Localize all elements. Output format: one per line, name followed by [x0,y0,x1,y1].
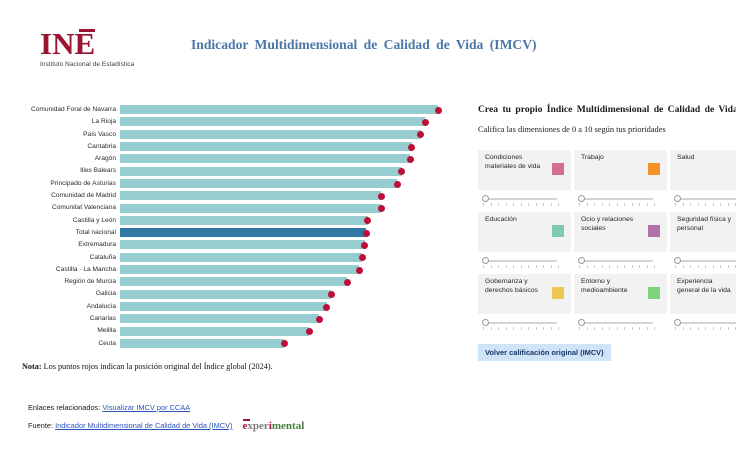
slider-tick [728,265,729,268]
slider-tick [551,327,552,330]
bar-fill[interactable] [120,204,381,213]
slider-tick [536,265,537,268]
slider-handle[interactable] [578,257,585,264]
bar-fill[interactable] [120,240,365,249]
bar-track [120,253,472,262]
bar-row: Illes Balears [0,165,476,177]
slider-tick [639,203,640,206]
slider-tick [491,203,492,206]
slider-tick [521,265,522,268]
slider-tick [683,203,684,206]
slider-tick [558,203,559,206]
slider-tick [483,265,484,268]
original-position-dot [408,144,415,151]
slider-tick [624,265,625,268]
slider-tick [528,327,529,330]
original-position-dot [328,291,335,298]
builder-title: Crea tu propio Índice Multidimensional d… [478,104,736,115]
slider-tick [698,265,699,268]
bar-row: Canarias [0,313,476,325]
original-position-dot [407,156,414,163]
dimension-card: Seguridad física y personal [670,212,736,252]
slider-tick [513,265,514,268]
slider-tick [536,327,537,330]
bar-label: Comunidad de Madrid [0,191,116,200]
bar-track [120,204,472,213]
experimental-logo-xper: xper [247,420,268,432]
bar-track [120,216,472,225]
ine-logo-block: INE Instituto Nacional de Estadística [40,28,200,68]
slider-tick [543,327,544,330]
slider-tick [579,203,580,206]
bar-fill[interactable] [120,290,331,299]
experimental-logo: experimental [243,421,305,432]
bar-fill[interactable] [120,179,397,188]
bar-label: Castilla - La Mancha [0,265,116,274]
original-position-dot [356,267,363,274]
slider-tick [483,203,484,206]
dimension-label: Trabajo [581,154,637,163]
slider-tick [594,327,595,330]
bar-fill[interactable] [120,117,425,126]
dimension-cell: Experiencia general de la vida [670,274,736,330]
slider-tick [728,327,729,330]
dimension-cell: Salud [670,150,736,206]
slider-tick [513,327,514,330]
slider-tick [720,327,721,330]
dimension-card: Ocio y relaciones sociales [574,212,667,252]
ine-logo-overbar-icon [79,29,95,32]
bar-fill[interactable] [120,154,410,163]
slider-tick [498,265,499,268]
slider-handle[interactable] [578,319,585,326]
slider-tick [675,203,676,206]
slider-tick [594,265,595,268]
dimension-card: Experiencia general de la vida [670,274,736,314]
slider-tick [594,203,595,206]
original-position-dot [398,168,405,175]
slider-tick [720,203,721,206]
dimension-cell: Trabajo [574,150,667,206]
slider-tick [698,327,699,330]
slider-tick [528,265,529,268]
slider-tick [690,265,691,268]
chart-note-text: Los puntos rojos indican la posición ori… [42,362,273,371]
slider-tick [609,265,610,268]
slider-tick [543,203,544,206]
bar-row: Ceuta [0,338,476,350]
bar-track [120,228,472,237]
bar-track [120,105,472,114]
bar-track [120,142,472,151]
slider-ticks [675,203,736,206]
bar-fill[interactable] [120,253,362,262]
slider-tick [521,327,522,330]
slider-tick [506,327,507,330]
bar-fill[interactable] [120,277,347,286]
slider-tick [602,203,603,206]
original-position-dot [378,205,385,212]
bar-label: Melilla [0,326,116,335]
slider-tick [609,327,610,330]
bar-row: La Rioja [0,116,476,128]
dimension-slider[interactable] [670,317,736,330]
slider-tick [639,265,640,268]
dimension-cell: Seguridad física y personal [670,212,736,268]
slider-tick [647,265,648,268]
original-position-dot [422,119,429,126]
dimension-slider[interactable] [670,193,736,206]
slider-tick [698,203,699,206]
slider-tick [543,265,544,268]
slider-ticks [579,327,655,330]
slider-tick [491,327,492,330]
bar-label: Comunidad Foral de Navarra [0,105,116,114]
bar-fill[interactable] [120,228,366,237]
bar-fill[interactable] [120,130,421,139]
page-title: Indicador Multidimensional de Calidad de… [191,37,537,53]
original-position-dot [394,181,401,188]
dimension-label: Gobernanza y derechos básicos [485,278,541,295]
dimension-slider[interactable] [574,317,667,330]
bar-row: Castilla y León [0,215,476,227]
slider-tick [506,265,507,268]
bar-label: Principado de Asturias [0,179,116,188]
bar-track [120,167,472,176]
slider-ticks [579,265,655,268]
bar-track [120,314,472,323]
dimension-card: Trabajo [574,150,667,190]
source-line: Fuente: Indicador Multidimensional de Ca… [28,420,488,431]
slider-handle[interactable] [578,195,585,202]
bar-fill[interactable] [120,339,284,348]
dimension-card: Educación [478,212,571,252]
ine-logo-text: INE [40,28,95,59]
slider-tick [639,327,640,330]
bar-label: La Rioja [0,117,116,126]
footer-links: Enlaces relacionados: Visualizar IMCV po… [28,402,488,438]
bar-track [120,277,472,286]
slider-tick [675,265,676,268]
dimension-label: Seguridad física y personal [677,216,733,233]
dimension-slider[interactable] [574,193,667,206]
slider-tick [632,265,633,268]
bar-fill[interactable] [120,105,438,114]
slider-tick [587,265,588,268]
bar-label: Andalucía [0,302,116,311]
slider-tick [683,265,684,268]
bar-label: Comunitat Valenciana [0,203,116,212]
slider-handle[interactable] [482,257,489,264]
slider-tick [579,265,580,268]
slider-track[interactable] [581,198,653,201]
dimension-color-swatch [648,163,660,175]
slider-handle[interactable] [482,195,489,202]
slider-track[interactable] [485,260,557,263]
slider-tick [498,327,499,330]
dimension-label: Ocio y relaciones sociales [581,216,637,233]
bar-label: Extremadura [0,240,116,249]
bar-row: Comunidad Foral de Navarra [0,104,476,116]
bar-fill[interactable] [120,327,309,336]
slider-tick [632,203,633,206]
related-links-line: Enlaces relacionados: Visualizar IMCV po… [28,402,488,413]
slider-handle[interactable] [674,257,681,264]
bar-fill[interactable] [120,142,412,151]
slider-tick [551,265,552,268]
original-position-dot [344,279,351,286]
slider-track[interactable] [485,322,557,325]
bar-fill[interactable] [120,302,327,311]
slider-track[interactable] [677,322,736,325]
bar-label: Castilla y León [0,216,116,225]
slider-tick [624,327,625,330]
dimension-card: Entorno y medioambiente [574,274,667,314]
bar-track [120,290,472,299]
dimension-color-swatch [552,225,564,237]
dimension-cell: Condiciones materiales de vida [478,150,571,206]
bar-fill[interactable] [120,216,368,225]
experimental-logo-mental: mental [272,420,304,432]
dimension-label: Condiciones materiales de vida [485,154,541,171]
slider-tick [632,327,633,330]
original-position-dot [316,316,323,323]
bar-fill[interactable] [120,167,402,176]
bar-row: Principado de Asturias [0,178,476,190]
slider-tick [491,265,492,268]
bar-track [120,130,472,139]
slider-tick [654,327,655,330]
slider-handle[interactable] [482,319,489,326]
experimental-logo-e: e [243,420,248,432]
bar-label: País Vasco [0,130,116,139]
experimental-logo-overbar-icon [243,419,250,421]
original-position-dot [363,230,370,237]
slider-tick [558,327,559,330]
slider-tick [609,203,610,206]
slider-tick [705,203,706,206]
slider-tick [654,265,655,268]
original-position-dot [435,107,442,114]
page-root: INE Instituto Nacional de Estadística In… [0,0,736,454]
dimension-cell: Entorno y medioambiente [574,274,667,330]
slider-tick [617,265,618,268]
bar-label: Cantabria [0,142,116,151]
bar-label: Ceuta [0,339,116,348]
bar-label: Región de Murcia [0,277,116,286]
bar-track [120,179,472,188]
bar-row: Aragón [0,153,476,165]
dimension-slider[interactable] [478,193,571,206]
bar-row: Comunidad de Madrid [0,190,476,202]
bar-row: Melilla [0,325,476,337]
slider-tick [617,327,618,330]
dimension-cell: Ocio y relaciones sociales [574,212,667,268]
original-position-dot [323,304,330,311]
bar-row: Cataluña [0,252,476,264]
bar-fill[interactable] [120,314,319,323]
original-position-dot [361,242,368,249]
index-builder-panel: Crea tu propio Índice Multidimensional d… [478,104,736,374]
reset-to-original-button[interactable]: Volver calificación original (IMCV) [478,344,611,361]
dimension-label: Salud [677,154,733,163]
dimension-color-swatch [648,287,660,299]
bar-row: Total nacional [0,227,476,239]
source-label: Fuente: [28,421,53,430]
original-position-dot [364,217,371,224]
bar-fill[interactable] [120,265,359,274]
link-visualizar-imcv-por-ccaa[interactable]: Visualizar IMCV por CCAA [102,403,190,412]
bar-track [120,240,472,249]
bar-row: Extremadura [0,239,476,251]
slider-tick [513,203,514,206]
slider-tick [713,327,714,330]
bar-track [120,339,472,348]
original-position-dot [417,131,424,138]
dimension-slider[interactable] [574,255,667,268]
imcv-bar-chart: Comunidad Foral de NavarraLa RiojaPaís V… [0,104,476,366]
slider-tick [521,203,522,206]
slider-tick [683,327,684,330]
slider-handle[interactable] [674,195,681,202]
slider-tick [602,327,603,330]
slider-tick [690,203,691,206]
dimension-label: Entorno y medioambiente [581,278,637,295]
bar-track [120,154,472,163]
slider-track[interactable] [581,260,653,263]
slider-tick [654,203,655,206]
slider-ticks [483,327,559,330]
dimension-slider[interactable] [478,255,571,268]
slider-handle[interactable] [674,319,681,326]
bar-label: Galicia [0,289,116,298]
original-position-dot [306,328,313,335]
bar-row: Comunitat Valenciana [0,202,476,214]
bar-track [120,302,472,311]
dimension-cell: Gobernanza y derechos básicos [478,274,571,330]
dimension-grid: Condiciones materiales de vidaTrabajoSal… [478,150,736,330]
slider-tick [579,327,580,330]
slider-tick [690,327,691,330]
bar-label: Aragón [0,154,116,163]
slider-tick [675,327,676,330]
original-position-dot [281,340,288,347]
slider-tick [728,203,729,206]
slider-tick [705,265,706,268]
slider-tick [483,327,484,330]
ine-logo-subtitle: Instituto Nacional de Estadística [40,61,200,68]
dimension-cell: Educación [478,212,571,268]
slider-ticks [675,265,736,268]
bar-row: País Vasco [0,129,476,141]
bar-label: Illes Balears [0,166,116,175]
bar-row: Castilla - La Mancha [0,264,476,276]
link-imcv-source[interactable]: Indicador Multidimensional de Calidad de… [55,421,232,430]
dimension-label: Experiencia general de la vida [677,278,733,295]
slider-track[interactable] [485,198,557,201]
slider-ticks [675,327,736,330]
bar-row: Galicia [0,288,476,300]
bar-label: Cataluña [0,253,116,262]
chart-note: Nota: Los puntos rojos indican la posici… [22,362,273,371]
slider-tick [498,203,499,206]
bar-row: Región de Murcia [0,276,476,288]
slider-ticks [483,203,559,206]
chart-note-prefix: Nota: [22,362,42,371]
slider-tick [506,203,507,206]
slider-track[interactable] [581,322,653,325]
related-links-label: Enlaces relacionados: [28,403,100,412]
slider-tick [617,203,618,206]
slider-tick [713,265,714,268]
slider-track[interactable] [677,260,736,263]
builder-subtitle: Califica las dimensiones de 0 a 10 según… [478,125,736,134]
bar-label: Total nacional [0,228,116,237]
slider-tick [587,203,588,206]
dimension-card: Salud [670,150,736,190]
slider-tick [551,203,552,206]
bar-track [120,265,472,274]
dimension-color-swatch [552,287,564,299]
slider-tick [536,203,537,206]
dimension-color-swatch [648,225,660,237]
dimension-color-swatch [552,163,564,175]
slider-tick [713,203,714,206]
original-position-dot [378,193,385,200]
slider-tick [558,265,559,268]
bar-label: Canarias [0,314,116,323]
dimension-label: Educación [485,216,541,225]
slider-tick [647,203,648,206]
original-position-dot [359,254,366,261]
slider-ticks [579,203,655,206]
slider-tick [624,203,625,206]
slider-track[interactable] [677,198,736,201]
bar-track [120,327,472,336]
slider-tick [647,327,648,330]
dimension-card: Gobernanza y derechos básicos [478,274,571,314]
bar-fill[interactable] [120,191,381,200]
dimension-slider[interactable] [478,317,571,330]
bar-track [120,191,472,200]
slider-tick [587,327,588,330]
bar-row: Andalucía [0,301,476,313]
slider-ticks [483,265,559,268]
bar-track [120,117,472,126]
dimension-card: Condiciones materiales de vida [478,150,571,190]
slider-tick [720,265,721,268]
slider-tick [528,203,529,206]
slider-tick [705,327,706,330]
dimension-slider[interactable] [670,255,736,268]
slider-tick [602,265,603,268]
bar-row: Cantabria [0,141,476,153]
page-header: INE Instituto Nacional de Estadística In… [0,0,736,92]
